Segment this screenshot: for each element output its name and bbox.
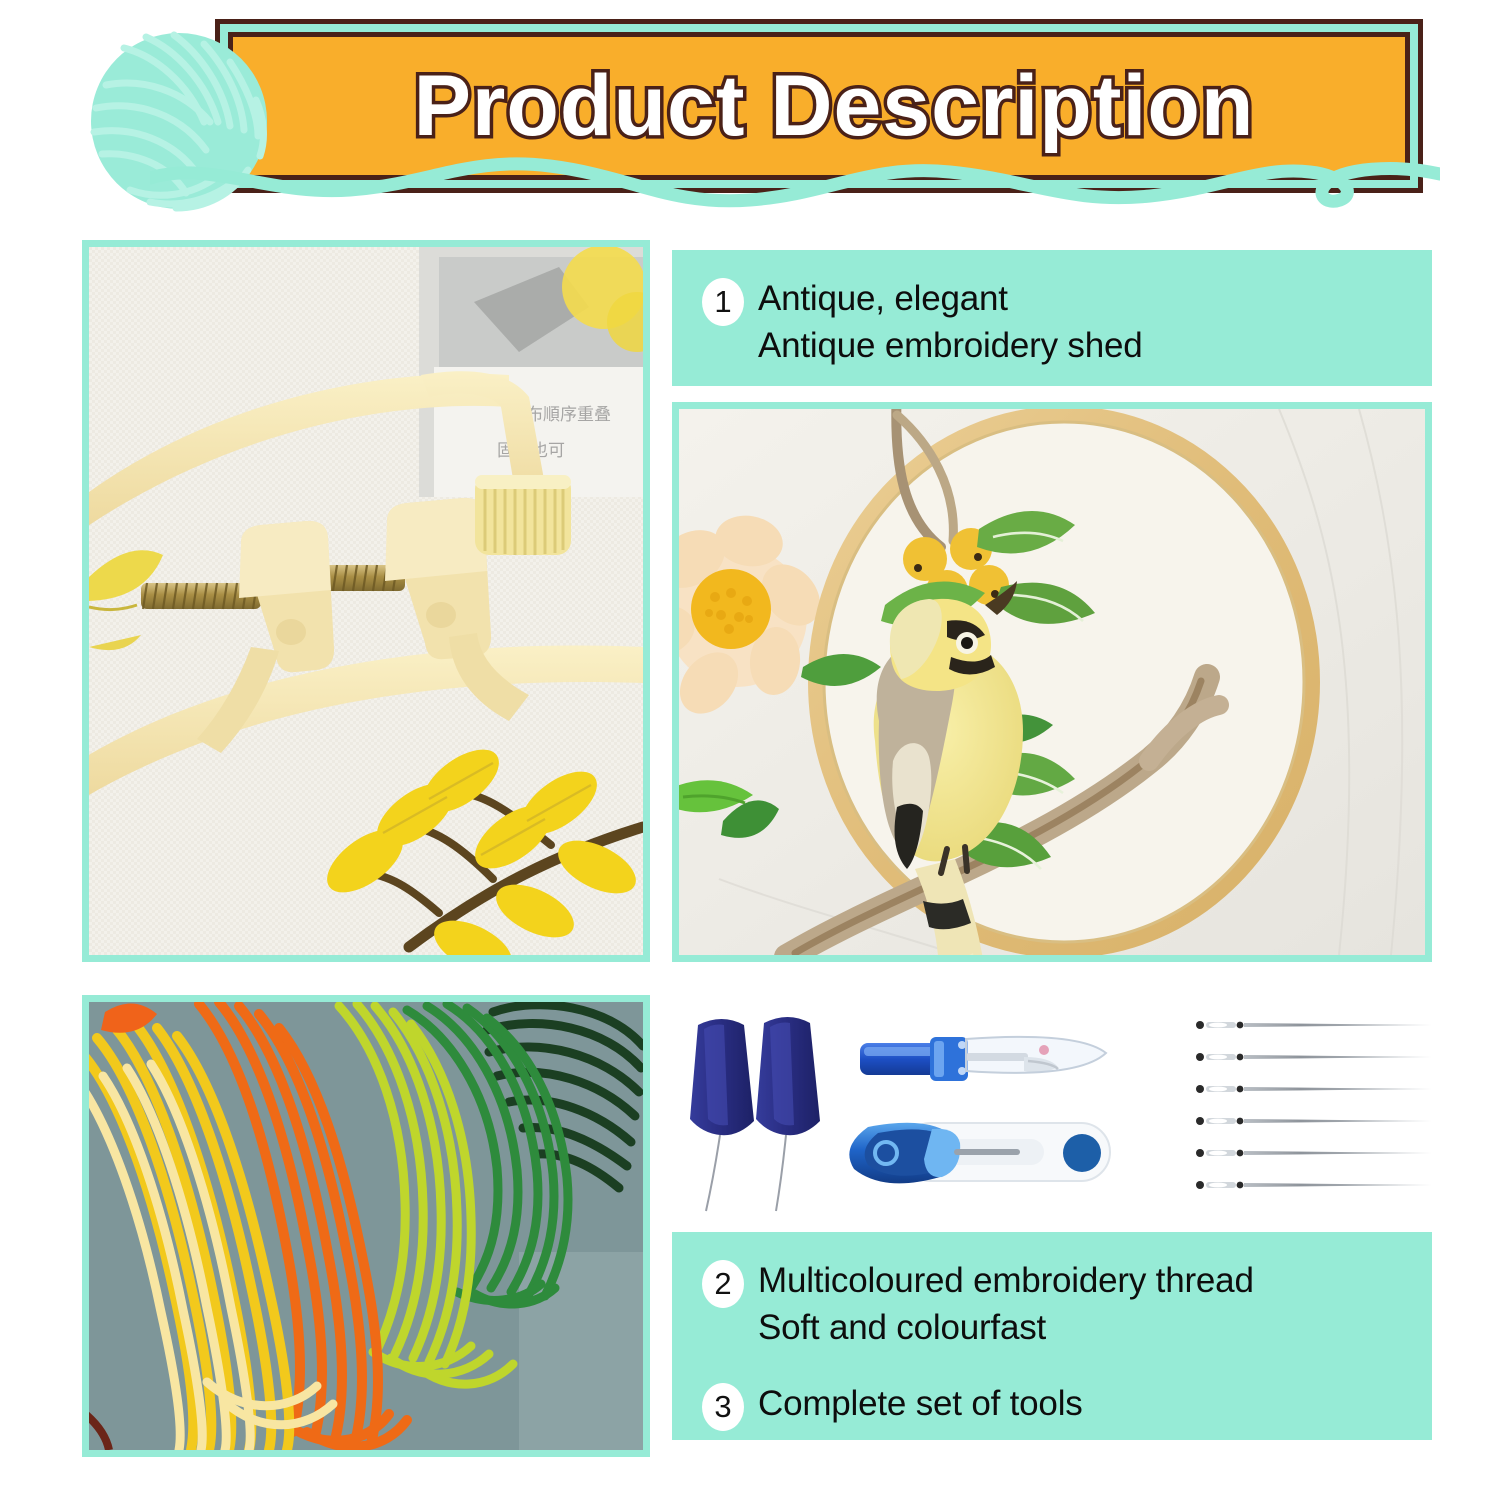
bird-embroidery-illustration: [679, 409, 1425, 955]
photo-hoop-clamp-closeup: 表布順序重叠 固定也可: [82, 240, 650, 962]
photo-finished-bird-embroidery: [672, 402, 1432, 962]
feature-item-2: 2 Multicoloured embroidery thread Soft a…: [702, 1258, 1402, 1351]
feature-line-1: Multicoloured embroidery thread: [758, 1261, 1254, 1300]
feature-text: Complete set of tools: [758, 1381, 1083, 1428]
feature-number-badge: 2: [702, 1260, 744, 1308]
feature-line-1: Complete set of tools: [758, 1384, 1083, 1423]
wavy-thread-decoration: [150, 150, 1440, 220]
page-title: Product Description: [414, 63, 1255, 149]
feature-item-3: 3 Complete set of tools: [702, 1381, 1402, 1431]
feature-line-2: Soft and colourfast: [758, 1305, 1254, 1352]
feature-panel-2: 2 Multicoloured embroidery thread Soft a…: [672, 1232, 1432, 1440]
thread-snips: [849, 1123, 1110, 1184]
feature-panel-1: 1 Antique, elegant Antique embroidery sh…: [672, 250, 1432, 386]
hoop-clamp-illustration: 表布順序重叠 固定也可: [89, 247, 643, 955]
feature-text: Antique, elegant Antique embroidery shed: [758, 276, 1143, 369]
photo-tool-kit: [672, 995, 1432, 1217]
photo-thread-skeins: [82, 995, 650, 1457]
feature-line-2: Antique embroidery shed: [758, 323, 1143, 370]
feature-number-badge: 3: [702, 1383, 744, 1431]
tool-kit-illustration: [672, 995, 1432, 1217]
thread-skeins-illustration: [89, 1002, 643, 1450]
feature-item-1: 1 Antique, elegant Antique embroidery sh…: [702, 276, 1402, 369]
header-banner: Product Description: [0, 0, 1500, 220]
feature-number-badge: 1: [702, 278, 744, 326]
feature-line-1: Antique, elegant: [758, 279, 1008, 318]
feature-text: Multicoloured embroidery thread Soft and…: [758, 1258, 1254, 1351]
